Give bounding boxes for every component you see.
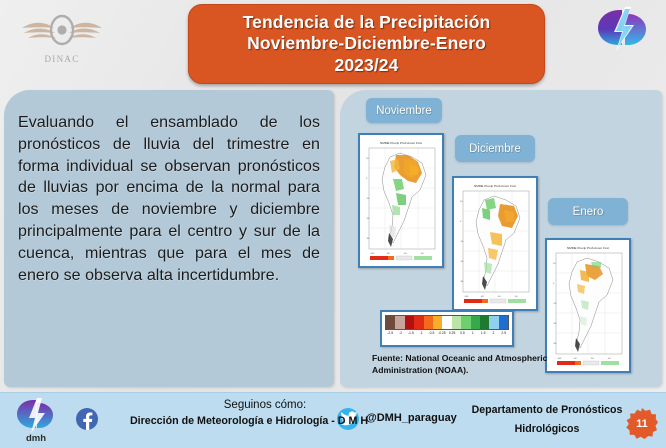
maps-panel: Noviembre Diciembre Enero NMME Precip Pr… <box>340 90 662 387</box>
facebook-glyph <box>76 408 98 430</box>
cloud-lightning-icon <box>14 397 58 435</box>
dinac-logo: DINAC <box>14 8 110 64</box>
colorbar-tick-4: -0.5 <box>426 329 436 340</box>
colorbar-tick-8: 1 <box>468 329 478 340</box>
dmh-logo-top <box>592 4 654 54</box>
map-noviembre[interactable]: NMME Precip Prob Anom Fcst <box>358 133 444 268</box>
precip-anomaly-map-diciembre: NMME Precip Prob Anom Fcst <box>454 178 536 309</box>
colorbar-strip <box>385 315 509 330</box>
winged-emblem-icon <box>14 8 110 54</box>
colorbar-swatch-7 <box>452 316 461 329</box>
title-line-3: 2023/24 <box>335 55 399 76</box>
twitter-handle[interactable]: @DMH_paraguay <box>366 412 457 424</box>
department-line-1: Departamento de Pronósticos <box>458 401 636 420</box>
precip-anomaly-map-noviembre: NMME Precip Prob Anom Fcst <box>360 135 442 266</box>
summary-panel: Evaluando el ensamblado de los pronóstic… <box>4 90 334 387</box>
svg-text:-100: -100 <box>370 253 375 255</box>
colorbar-swatch-9 <box>471 316 480 329</box>
colorbar-swatch-6 <box>442 316 451 329</box>
colorbar-swatch-12 <box>499 316 508 329</box>
colorbar-tick-3: -1 <box>416 329 426 340</box>
colorbar-tick-11: 2.5 <box>499 329 509 340</box>
facebook-icon[interactable] <box>76 408 98 430</box>
dinac-wordmark: DINAC <box>14 54 110 64</box>
colorbar-tick-2: -1.5 <box>406 329 416 340</box>
colorbar-swatch-2 <box>405 316 414 329</box>
title-line-1: Tendencia de la Precipitación <box>243 12 491 33</box>
colorbar-legend: -2.5-2-1.5-1-0.5-0.250.250.511.522.5 <box>380 310 514 347</box>
colorbar-swatch-1 <box>395 316 404 329</box>
month-tag-noviembre: Noviembre <box>366 98 442 123</box>
title-line-2: Noviembre-Diciembre-Enero <box>247 33 486 54</box>
colorbar-tick-0: -2.5 <box>385 329 395 340</box>
slide: DINAC Tendencia de la Precipitación Novi… <box>0 0 666 448</box>
footer: dmh Seguinos cómo: Dirección de Meteorol… <box>0 392 666 448</box>
cloud-lightning-icon <box>592 4 654 54</box>
department-line-2: Hidrológicos <box>458 420 636 439</box>
summary-text: Evaluando el ensamblado de los pronóstic… <box>18 112 320 286</box>
svg-text:NMME Precip Prob Anom Fcst: NMME Precip Prob Anom Fcst <box>567 246 609 250</box>
colorbar-tick-5: -0.25 <box>437 329 447 340</box>
dmh-footer-label: dmh <box>14 433 58 444</box>
colorbar-ticks: -2.5-2-1.5-1-0.5-0.250.250.511.522.5 <box>385 329 509 340</box>
colorbar-swatch-10 <box>480 316 489 329</box>
month-tag-diciembre: Diciembre <box>455 135 535 162</box>
facebook-page-name[interactable]: Dirección de Meteorología e Hidrología -… <box>104 415 394 427</box>
colorbar-swatch-11 <box>489 316 498 329</box>
colorbar-swatch-3 <box>414 316 423 329</box>
dmh-logo-footer <box>14 397 58 435</box>
month-tag-enero: Enero <box>548 198 628 225</box>
colorbar-tick-6: 0.25 <box>447 329 457 340</box>
colorbar-tick-1: -2 <box>395 329 405 340</box>
colorbar-swatch-5 <box>433 316 442 329</box>
source-note: Fuente: National Oceanic and Atmospheric… <box>372 352 602 377</box>
follow-label: Seguinos cómo: <box>150 399 380 411</box>
page-title: Tendencia de la Precipitación Noviembre-… <box>188 4 545 84</box>
colorbar-tick-9: 1.5 <box>478 329 488 340</box>
colorbar-swatch-0 <box>386 316 395 329</box>
colorbar-swatch-8 <box>461 316 470 329</box>
svg-text:NMME Precip Prob Anom Fcst: NMME Precip Prob Anom Fcst <box>474 184 516 188</box>
svg-text:NMME Precip Prob Anom Fcst: NMME Precip Prob Anom Fcst <box>380 141 422 145</box>
svg-text:-100: -100 <box>464 296 469 298</box>
colorbar-swatch-4 <box>424 316 433 329</box>
map-diciembre[interactable]: NMME Precip Prob Anom Fcst <box>452 176 538 311</box>
department-name: Departamento de Pronósticos Hidrológicos <box>458 401 636 438</box>
colorbar-tick-7: 0.5 <box>457 329 467 340</box>
colorbar-tick-10: 2 <box>488 329 498 340</box>
